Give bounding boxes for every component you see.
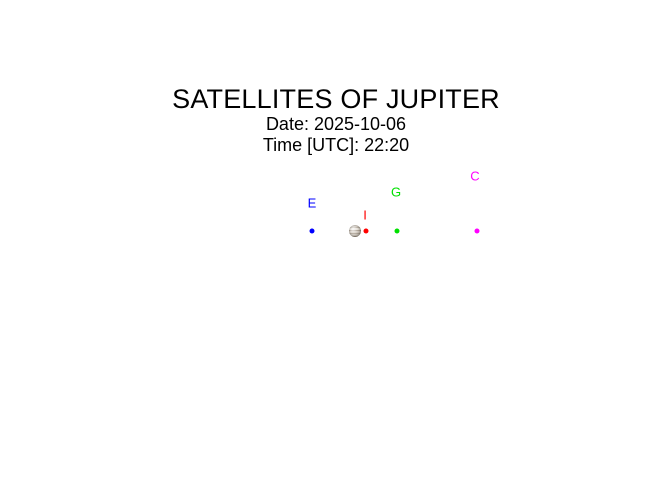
moon-label-ganymede: G bbox=[391, 186, 401, 199]
moon-marker-io bbox=[364, 229, 369, 234]
moon-label-callisto: C bbox=[470, 170, 479, 183]
jupiter-disk bbox=[349, 225, 361, 237]
moon-marker-europa bbox=[310, 229, 315, 234]
moon-marker-callisto bbox=[475, 229, 480, 234]
moon-label-io: I bbox=[363, 209, 367, 222]
satellite-viewer-canvas: SATELLITES OF JUPITER Date: 2025-10-06 T… bbox=[0, 0, 672, 480]
sky-plot-area: E I G C bbox=[0, 0, 672, 480]
moon-label-europa: E bbox=[308, 197, 317, 210]
moon-marker-ganymede bbox=[395, 229, 400, 234]
